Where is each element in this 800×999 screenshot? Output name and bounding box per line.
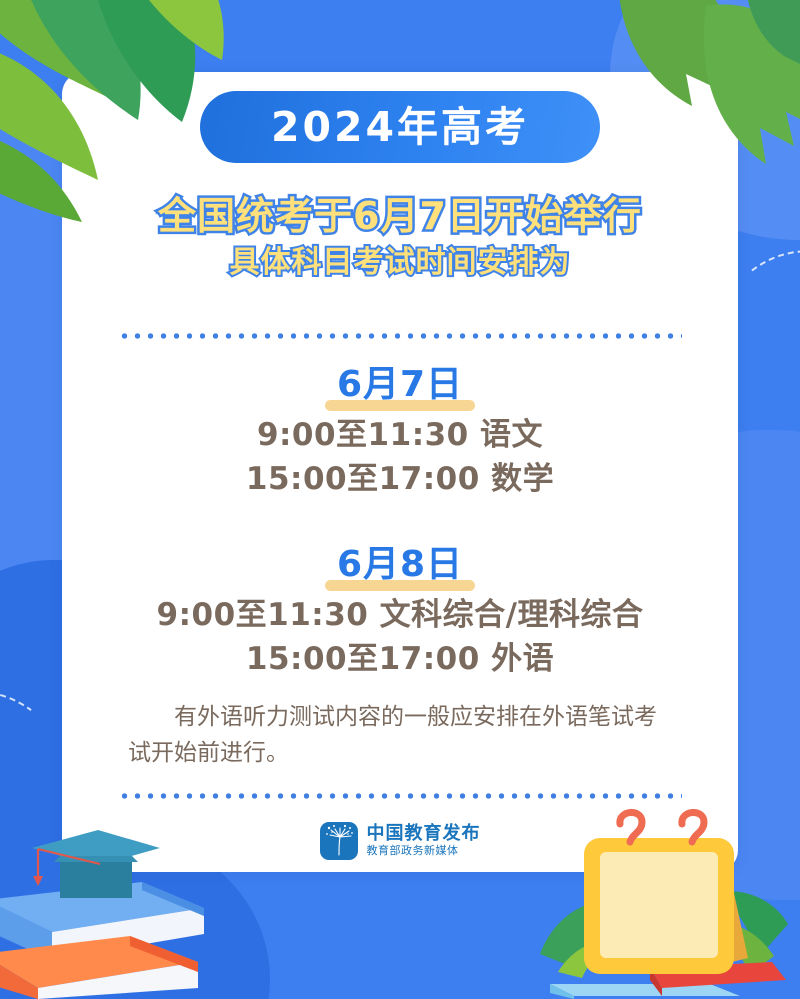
schedule-slot: 9:00至11:30 语文: [62, 413, 738, 457]
dotted-divider-top: [118, 333, 682, 339]
footer-logo: 中国教育发布 教育部政务新媒体: [0, 822, 800, 860]
headline-text: 全国统考于6月7日开始举行: [62, 195, 738, 239]
headline-block: 全国统考于6月7日开始举行 具体科目考试时间安排为: [62, 195, 738, 281]
dotted-divider-bottom: [118, 793, 682, 799]
schedule-date-text: 6月7日: [337, 355, 463, 407]
dandelion-icon: [320, 822, 358, 860]
footer-logo-subtitle: 教育部政务新媒体: [367, 844, 481, 858]
footer-logo-title: 中国教育发布: [367, 824, 481, 845]
schedule-slot: 15:00至17:00 外语: [62, 637, 738, 681]
subheadline-text: 具体科目考试时间安排为: [62, 245, 738, 281]
schedule-day-block: 6月7日 9:00至11:30 语文 15:00至17:00 数学: [62, 355, 738, 501]
schedule-slot: 9:00至11:30 文科综合/理科综合: [62, 593, 738, 637]
schedule-spacer: [62, 505, 738, 535]
title-badge: 2024年高考: [200, 91, 600, 163]
footer-logo-text: 中国教育发布 教育部政务新媒体: [367, 824, 481, 859]
schedule-section: 6月7日 9:00至11:30 语文 15:00至17:00 数学 6月8日 9…: [62, 355, 738, 685]
poster-root: 2024年高考 全国统考于6月7日开始举行 具体科目考试时间安排为 6月7日 9…: [0, 0, 800, 999]
schedule-day-block: 6月8日 9:00至11:30 文科综合/理科综合 15:00至17:00 外语: [62, 535, 738, 681]
schedule-date-heading: 6月8日: [331, 535, 469, 593]
schedule-date-heading: 6月7日: [331, 355, 469, 413]
note-text: 有外语听力测试内容的一般应安排在外语笔试考试开始前进行。: [128, 700, 676, 771]
schedule-date-text: 6月8日: [337, 535, 463, 587]
title-badge-text: 2024年高考: [271, 107, 529, 148]
schedule-slot: 15:00至17:00 数学: [62, 457, 738, 501]
